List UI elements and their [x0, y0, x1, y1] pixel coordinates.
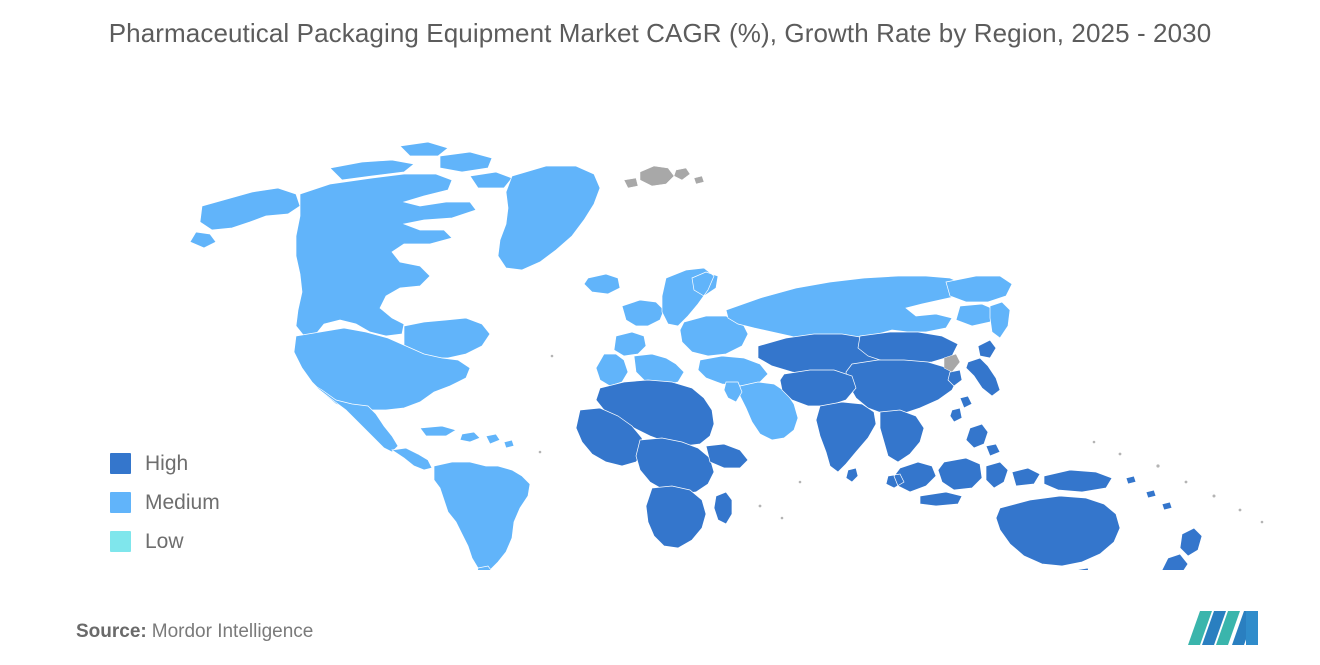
map-region-borneo	[938, 458, 982, 490]
map-region-south-america	[434, 462, 530, 570]
source-value: Mordor Intelligence	[152, 621, 314, 642]
legend-swatch-high	[110, 453, 131, 474]
map-speck	[759, 505, 762, 508]
map-region-southeast-asia	[880, 410, 924, 462]
map-region-philippines	[966, 424, 1000, 456]
map-region-japan	[960, 340, 1000, 408]
logo-shape-i-stem	[1246, 611, 1258, 645]
map-region-horn-of-africa	[706, 444, 748, 468]
map-region-java	[920, 492, 962, 506]
map-region-sulawesi	[986, 462, 1040, 488]
map-region-australia	[996, 496, 1120, 566]
map-region-alaska	[190, 188, 300, 248]
legend-label-low: Low	[145, 531, 184, 552]
map-region-tasmania	[1076, 568, 1090, 570]
source-attribution: Source:Mordor Intelligence	[76, 621, 313, 643]
map-region-canada	[296, 174, 476, 336]
legend-swatch-low	[110, 531, 131, 552]
map-speck	[1093, 441, 1096, 444]
map-region-sri-lanka	[846, 468, 858, 482]
map-region-iceland	[584, 274, 620, 294]
map-region-levant	[724, 382, 742, 402]
map-region-southern-africa	[646, 486, 706, 548]
map-speck	[539, 451, 542, 454]
map-region-new-guinea	[1044, 470, 1112, 492]
map-speck	[1156, 464, 1159, 467]
mordor-intelligence-logo	[1186, 607, 1264, 647]
map-speck	[1213, 495, 1216, 498]
legend-item-high[interactable]: High	[110, 450, 220, 476]
map-speck	[1239, 509, 1242, 512]
map-region-turkey-balkans	[698, 356, 768, 386]
map-legend: High Medium Low	[110, 450, 220, 554]
map-region-greenland	[498, 166, 600, 270]
map-region-new-zealand	[1162, 528, 1202, 570]
map-speck	[551, 355, 554, 358]
map-region-taiwan	[950, 408, 962, 422]
map-speck	[781, 517, 784, 520]
map-region-madagascar	[714, 492, 732, 524]
legend-label-medium: Medium	[145, 492, 220, 513]
map-region-india	[816, 402, 876, 472]
source-label: Source:	[76, 621, 147, 642]
map-region-central-east-africa	[636, 438, 714, 494]
legend-label-high: High	[145, 453, 188, 474]
map-region-caribbean	[420, 426, 514, 448]
map-region-central-america	[392, 448, 432, 470]
logo-svg	[1186, 607, 1264, 647]
legend-item-low[interactable]: Low	[110, 528, 220, 554]
map-region-sumatra	[886, 462, 936, 492]
legend-swatch-medium	[110, 492, 131, 513]
map-speck	[799, 481, 802, 484]
map-speck	[1261, 521, 1264, 524]
map-region-pacific-islands	[1126, 476, 1172, 510]
legend-item-medium[interactable]: Medium	[110, 489, 220, 515]
map-speck	[1119, 453, 1122, 456]
page-title: Pharmaceutical Packaging Equipment Marke…	[15, 14, 1305, 52]
map-speck	[1185, 481, 1188, 484]
map-region-svalbard	[624, 166, 704, 188]
map-region-kamchatka	[990, 302, 1010, 338]
